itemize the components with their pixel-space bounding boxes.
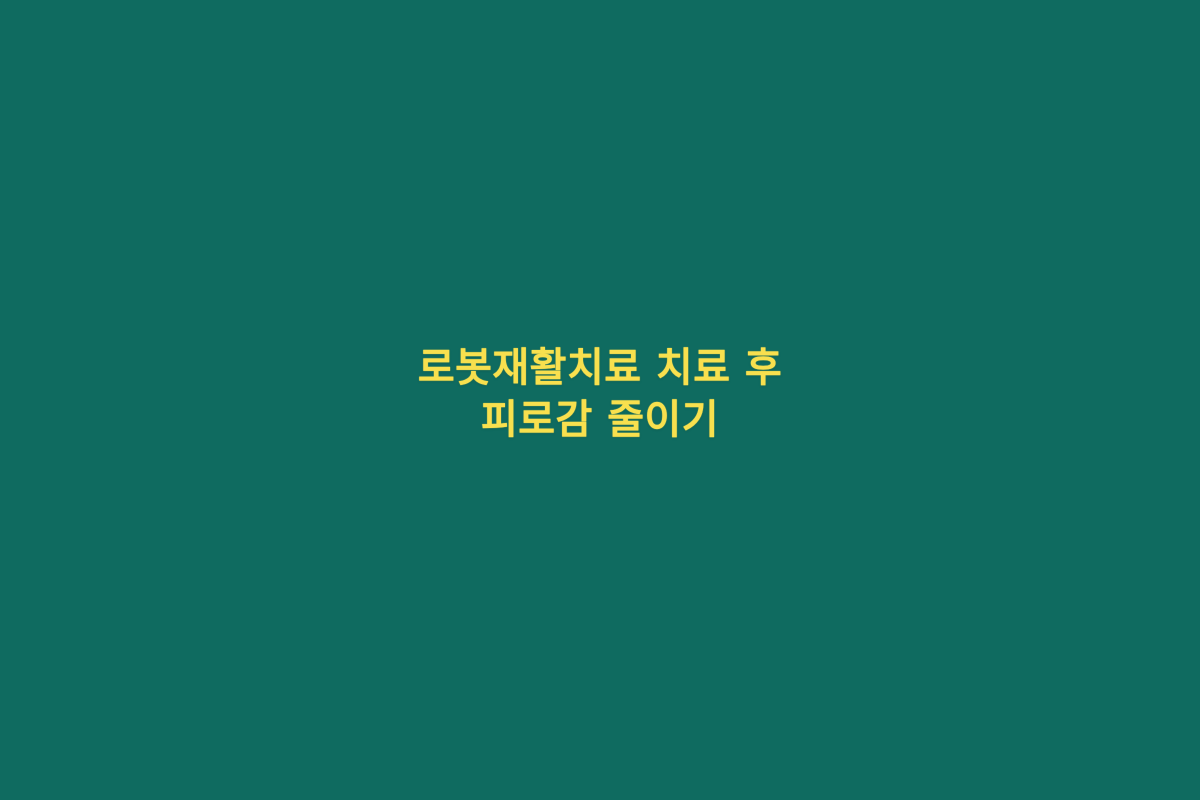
headline-line-1: 로봇재활치료 치료 후 [60, 344, 1140, 392]
headline-line-2: 피로감 줄이기 [60, 396, 1140, 444]
banner-canvas: 로봇재활치료 치료 후 피로감 줄이기 [0, 0, 1200, 800]
headline-block: 로봇재활치료 치료 후 피로감 줄이기 [60, 344, 1140, 445]
